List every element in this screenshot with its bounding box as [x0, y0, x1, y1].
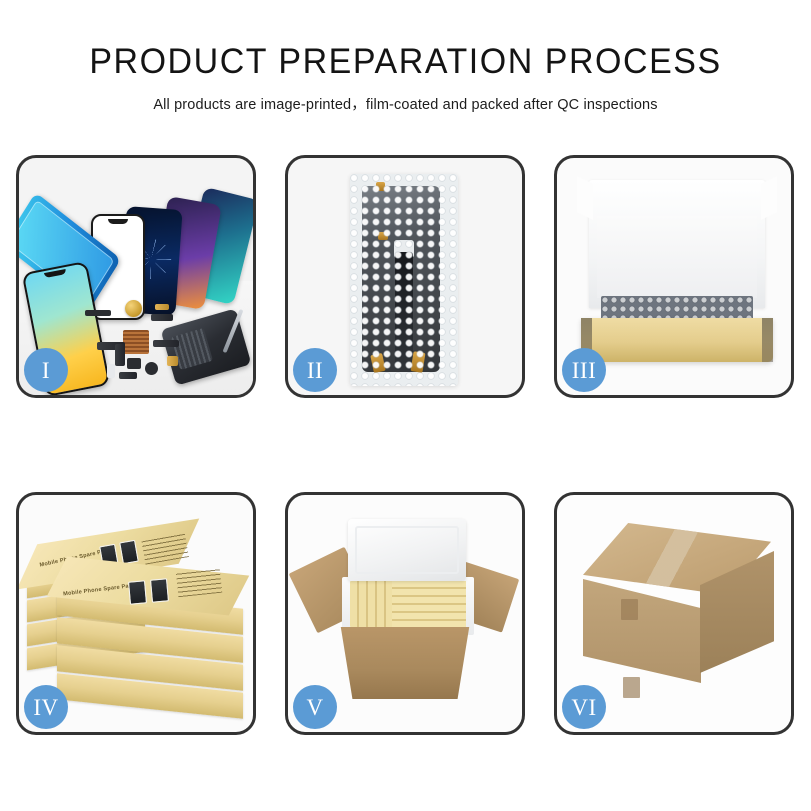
- page-subtitle: All products are image-printed，film-coat…: [0, 93, 811, 114]
- inner-box-base: [581, 318, 773, 362]
- process-step-grid: I II III: [16, 155, 795, 735]
- part-speaker-bar: [85, 310, 111, 316]
- step-badge-2: II: [293, 348, 337, 392]
- part-camera-module: [127, 358, 141, 369]
- part-sim-tray: [107, 364, 115, 378]
- carton-left-face: [583, 579, 701, 683]
- box-feature-list-front: [176, 567, 222, 597]
- lid-flap-right: [761, 176, 777, 220]
- process-step-card-2[interactable]: II: [285, 155, 525, 398]
- step-badge-4: IV: [24, 685, 68, 729]
- step-badge-3: III: [562, 348, 606, 392]
- foam-liner: [597, 216, 757, 298]
- page-header: PRODUCT PREPARATION PROCESS All products…: [0, 0, 811, 114]
- part-flex-cable-1: [151, 314, 173, 321]
- part-gold-connector: [155, 304, 169, 310]
- part-battery-connector: [167, 356, 178, 366]
- process-step-card-6[interactable]: VI: [554, 492, 794, 735]
- lid-flap-left: [577, 176, 593, 220]
- process-step-card-1[interactable]: I: [16, 155, 256, 398]
- gold-coil-component: [125, 300, 142, 317]
- step-badge-6: VI: [562, 685, 606, 729]
- part-vibrator: [145, 362, 158, 375]
- part-flex-cable-3: [153, 340, 179, 347]
- part-flex-cable-4: [115, 344, 125, 366]
- box-artwork-phone-front-2: [150, 578, 169, 602]
- phone-notch: [44, 269, 67, 278]
- carton-label-patch-upper: [621, 599, 638, 620]
- page-title: PRODUCT PREPARATION PROCESS: [12, 44, 799, 81]
- step-badge-1: I: [24, 348, 68, 392]
- process-step-card-4[interactable]: Mobile Phone Spare Parts Mobile Phone Sp…: [16, 492, 256, 735]
- gold-boxes-row-right: [392, 581, 466, 627]
- bubble-wrap-bag: [350, 174, 458, 386]
- step-badge-5: V: [293, 685, 337, 729]
- foam-lid-open: [348, 519, 466, 581]
- carton-label-patch-lower: [623, 677, 640, 698]
- process-step-card-3[interactable]: III: [554, 155, 794, 398]
- part-flex-cable-5: [119, 372, 137, 379]
- copper-chip-grid: [123, 330, 149, 354]
- box-artwork-phone-front-1: [128, 580, 147, 604]
- process-step-card-5[interactable]: V: [285, 492, 525, 735]
- bubble-wrap-texture: [350, 174, 458, 386]
- phone-notch: [108, 219, 128, 224]
- carton-front-wall: [332, 627, 478, 699]
